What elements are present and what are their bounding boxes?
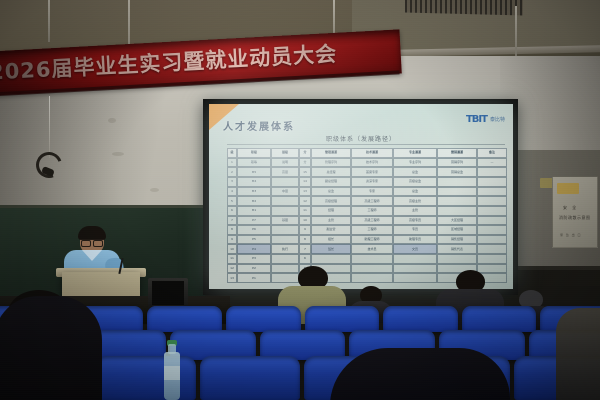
slide-table-cell: M5: [237, 167, 271, 177]
slide-table-header: 技术通道: [351, 148, 393, 158]
slide-table-cell: 13: [299, 187, 311, 197]
slide-table-cell: 高层: [271, 167, 299, 177]
slide-table-cell: 说明: [271, 158, 299, 168]
slide-table-cell: 首席专家: [351, 167, 393, 177]
safety-sign: 安 全 消防疏散示意图 紧 急 出 口: [552, 176, 598, 248]
slide-table-cell: 中层: [271, 187, 299, 197]
slide-table-cell: [477, 196, 507, 206]
slide-table-cell: 工程师: [351, 206, 393, 216]
slide-table-cell: [271, 225, 299, 235]
slide-table-header: 营销通道: [437, 148, 477, 158]
slide-divider: [227, 144, 505, 145]
slide-table-cell: [437, 177, 477, 187]
slide-table-header: 备注: [477, 148, 507, 158]
slide-table-cell: [351, 254, 393, 264]
slide-table-header: 专业通道: [393, 148, 437, 158]
slide-table-cell: [477, 167, 507, 177]
slide-heading: 职级体系（发展路径）: [209, 134, 513, 143]
slide-table: 级职级层级分管理通道技术通道专业通道营销通道备注1职等说明分管理序列技术序列专业…: [227, 148, 506, 283]
slide-table-cell: P7: [237, 216, 271, 226]
slide-table-cell: 高级工程师: [351, 216, 393, 226]
slide-table-cell: [477, 254, 507, 264]
seat[interactable]: [462, 306, 537, 332]
slide-table-cell: 销售经理: [437, 235, 477, 245]
slide-table-cell: 15: [299, 167, 311, 177]
slide-table-cell: [477, 206, 507, 216]
slide-table-cell: 11: [299, 206, 311, 216]
sign-line-1: 安 全: [563, 205, 578, 211]
glasses-icon: [81, 239, 103, 245]
slide-table-cell: [351, 273, 393, 283]
slide-table-cell: 营销序列: [437, 158, 477, 168]
slide-table-cell: 资深专家: [351, 177, 393, 187]
slide-table-cell: 专业序列: [393, 158, 437, 168]
slide-table-cell: 10: [227, 244, 237, 254]
slide-table-cell: 9: [299, 225, 311, 235]
slide-table-cell: 12: [299, 196, 311, 206]
presenter-hair: [78, 226, 106, 240]
slide-table-cell: 技术员: [351, 244, 393, 254]
slide-table-cell: —: [477, 158, 507, 168]
slide-table-cell: [271, 196, 299, 206]
slide-table-cell: 12: [227, 264, 237, 274]
slide-table-cell: 职等: [237, 158, 271, 168]
seat[interactable]: [95, 356, 196, 400]
slide-table-cell: 6: [227, 206, 237, 216]
slide-table-cell: 专员: [393, 225, 437, 235]
slide-table-cell: [437, 254, 477, 264]
slide-table-cell: 10: [299, 216, 311, 226]
slide-table-cell: [393, 254, 437, 264]
slide-table-header: 分: [299, 148, 311, 158]
slide-table-cell: 总经理: [311, 167, 351, 177]
slide-table-cell: 8: [227, 225, 237, 235]
slide-table-cell: 2: [227, 167, 237, 177]
foreground-person-left: [0, 296, 102, 400]
presenter-monitor-screen: [152, 281, 184, 305]
slide-table-cell: P2: [237, 264, 271, 274]
slide-table-cell: [271, 254, 299, 264]
slide-table-cell: 主管: [393, 206, 437, 216]
slide-table-cell: 高级总监: [393, 177, 437, 187]
hanging-cable: [49, 96, 50, 158]
slide-table-cell: [351, 264, 393, 274]
slide-table-cell: 工程师: [351, 225, 393, 235]
hanging-rod: [48, 0, 50, 42]
bottle-label: [164, 366, 180, 380]
slide-table-header: 层级: [271, 148, 299, 158]
slide-table-cell: 大区经理: [437, 216, 477, 226]
slide-table-cell: [477, 177, 507, 187]
slide-table-cell: P4: [237, 244, 271, 254]
slide-table-cell: 11: [227, 254, 237, 264]
slide-table-cell: P6: [237, 225, 271, 235]
slide-table-cell: [477, 244, 507, 254]
slide-table-cell: [437, 206, 477, 216]
slide-table-cell: 技术序列: [351, 158, 393, 168]
slide-table-cell: [271, 177, 299, 187]
slide-table-cell: P3: [237, 254, 271, 264]
slide-table-cell: 高级经理: [311, 196, 351, 206]
slide-title: 人才发展体系: [223, 118, 295, 133]
slide-table-cell: [477, 187, 507, 197]
slide-table-cell: 班长: [311, 244, 351, 254]
slide-table-cell: 助理工程师: [351, 235, 393, 245]
slide-table-cell: M1: [237, 206, 271, 216]
slide-table-cell: 总监: [311, 187, 351, 197]
slide-table-header: 职级: [237, 148, 271, 158]
slide-table-cell: 专家: [351, 187, 393, 197]
slide-table-cell: P5: [237, 235, 271, 245]
slide-table-cell: 副总经理: [311, 177, 351, 187]
sign-line-2: 消防疏散示意图: [559, 215, 591, 221]
slide-table-cell: [477, 216, 507, 226]
slide-table-cell: [477, 225, 507, 235]
slide-table-cell: M4: [237, 177, 271, 187]
slide-table-cell: 高级主管: [393, 196, 437, 206]
slide-table-cell: [271, 235, 299, 245]
slide-table-cell: P1: [237, 273, 271, 283]
slide-table-cell: 区域经理: [437, 225, 477, 235]
sign-line-3: 紧 急 出 口: [560, 233, 582, 237]
slide-table-cell: M2: [237, 196, 271, 206]
seat[interactable]: [305, 306, 380, 332]
presentation-slide: 人才发展体系 TBIT 泰比特 职级体系（发展路径） 级职级层级分管理通道技术通…: [209, 104, 513, 289]
slide-table-cell: 副主管: [311, 225, 351, 235]
seat[interactable]: [383, 306, 458, 332]
slide-table-cell: 总监: [393, 187, 437, 197]
slide-table-cell: 3: [227, 177, 237, 187]
slide-table-cell: 主管: [311, 216, 351, 226]
slide-table-cell: 4: [227, 187, 237, 197]
slide-table-cell: 基层: [271, 216, 299, 226]
slide-table-cell: M3: [237, 187, 271, 197]
projection-screen[interactable]: 人才发展体系 TBIT 泰比特 职级体系（发展路径） 级职级层级分管理通道技术通…: [209, 104, 513, 289]
slide-table-cell: 9: [227, 235, 237, 245]
logo-mark: TBIT: [466, 114, 487, 125]
hanging-rod: [515, 6, 517, 58]
slide-table-cell: 5: [227, 196, 237, 206]
slide-table-cell: 执行: [271, 244, 299, 254]
slide-table-cell: [393, 264, 437, 274]
slide-table-cell: [437, 196, 477, 206]
slide-table-cell: [271, 206, 299, 216]
slide-table-cell: 7: [227, 216, 237, 226]
seat[interactable]: [226, 306, 301, 332]
slide-table-cell: 管理序列: [311, 158, 351, 168]
logo-name-cn: 泰比特: [490, 116, 505, 123]
sign-badge-icon: [557, 183, 579, 194]
lecture-hall-photo: 2026届毕业生实习暨就业动员大会 人才发展体系 TBIT 泰比特 职级体系（发…: [0, 0, 600, 400]
slide-table-cell: [477, 235, 507, 245]
slide-table-cell: 营销总监: [437, 167, 477, 177]
foreground-person-right: [556, 308, 600, 400]
slide-table-cell: 8: [299, 235, 311, 245]
slide-table-cell: 6: [299, 254, 311, 264]
slide-table-cell: 分: [299, 158, 311, 168]
slide-table-cell: 高级专员: [393, 216, 437, 226]
slide-table-header: 管理通道: [311, 148, 351, 158]
slide-table-cell: 13: [227, 273, 237, 283]
slide-table-cell: [437, 187, 477, 197]
slide-table-cell: [393, 273, 437, 283]
slide-table-cell: 14: [299, 177, 311, 187]
seat[interactable]: [200, 356, 301, 400]
slide-table-cell: 高级工程师: [351, 196, 393, 206]
slide-table-cell: 经理: [311, 206, 351, 216]
slide-table-cell: 总监: [393, 167, 437, 177]
slide-table-cell: 销售代表: [437, 244, 477, 254]
slide-table-cell: 助理专员: [393, 235, 437, 245]
slide-table-cell: 1: [227, 158, 237, 168]
slide-table-header: 级: [227, 148, 237, 158]
company-logo: TBIT 泰比特: [466, 114, 505, 125]
slide-table-cell: 7: [299, 244, 311, 254]
seat[interactable]: [147, 306, 222, 332]
slide-table-cell: [311, 254, 351, 264]
slide-table-cell: 文员: [393, 244, 437, 254]
foreground-person-center: [330, 348, 510, 400]
slide-table-cell: 组长: [311, 235, 351, 245]
